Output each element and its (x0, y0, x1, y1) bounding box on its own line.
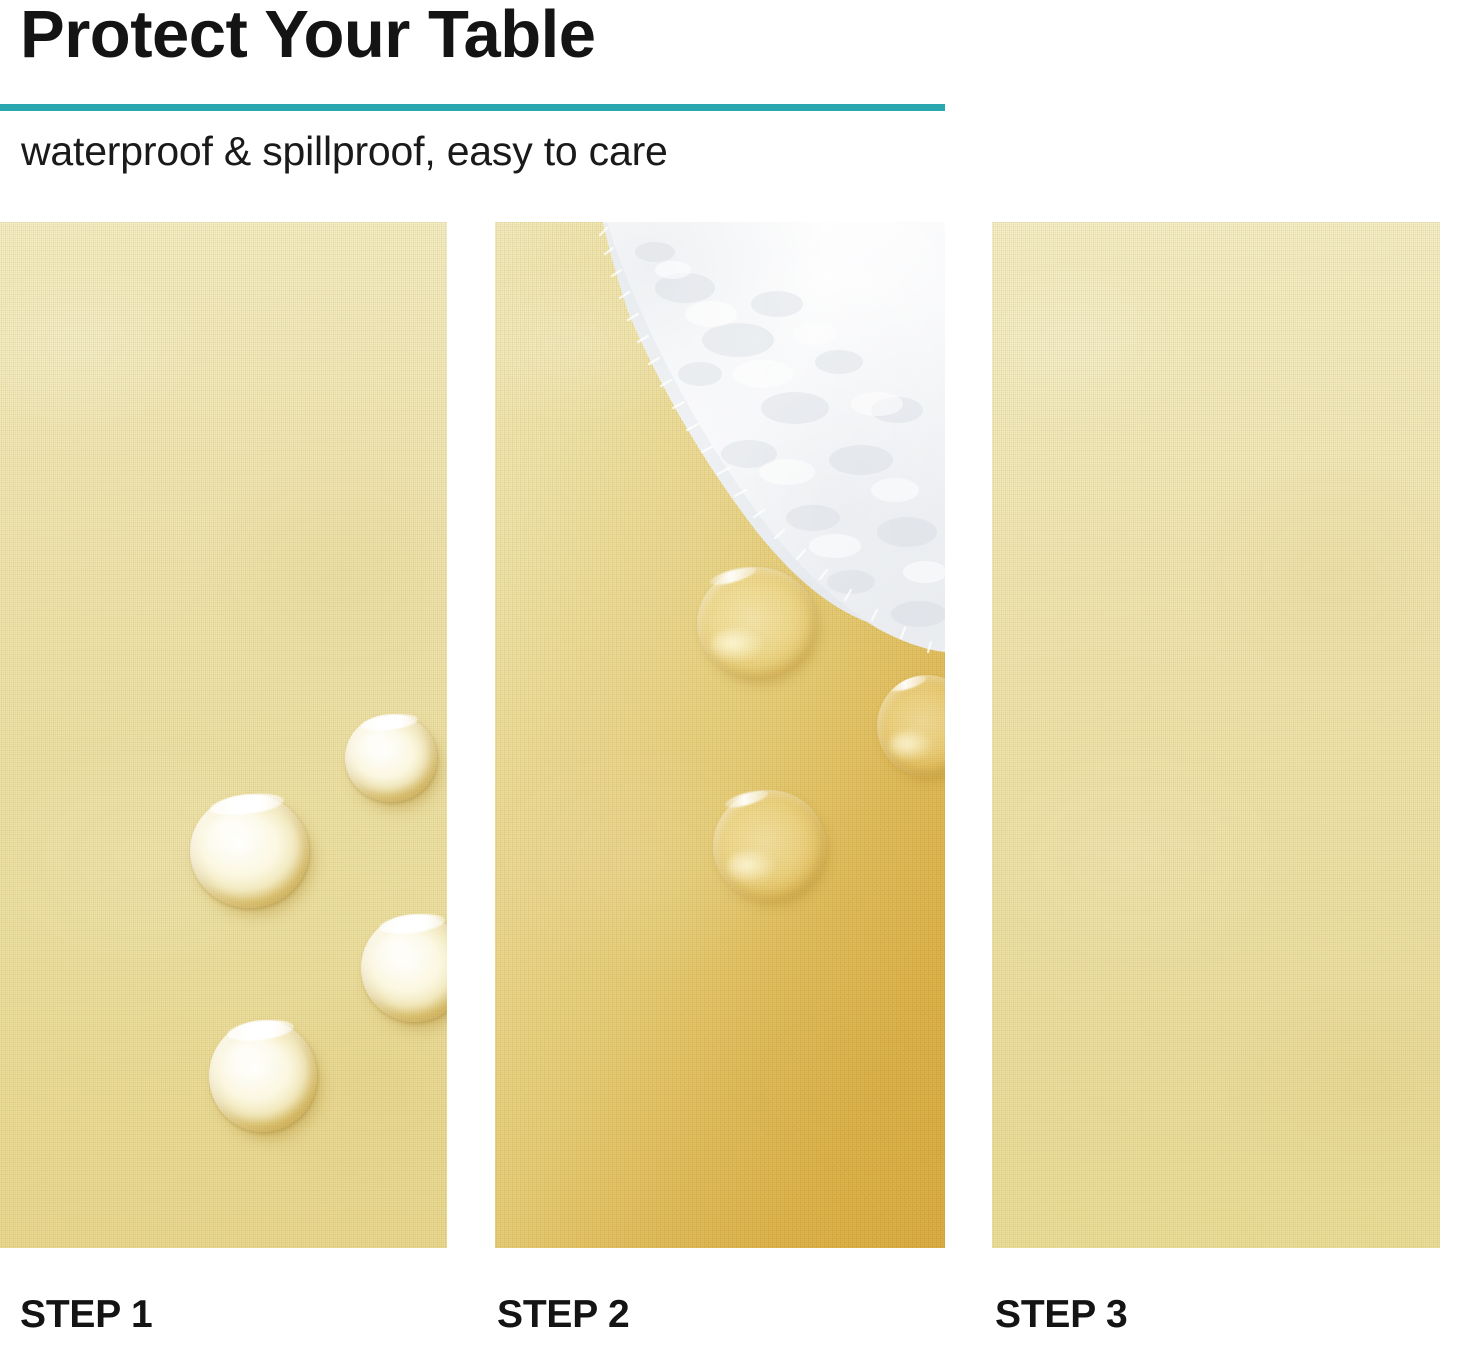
step-caption-3: STEP 3 (995, 1292, 1127, 1339)
header-block: Protect Your Table waterproof & spillpro… (0, 0, 1458, 200)
panel-step-1 (0, 222, 447, 1248)
step-caption-row: STEP 1 STEP 2 STEP 3 (0, 1292, 1458, 1363)
fabric-weave-diagonal-texture (992, 222, 1440, 1248)
fabric-surface-step-3 (992, 222, 1440, 1248)
product-infographic-page: { "header": { "title": "Protect Your Tab… (0, 0, 1458, 1363)
fabric-surface-step-2 (495, 222, 945, 1248)
fabric-weave-diagonal-texture (0, 222, 447, 1248)
fabric-surface-step-1 (0, 222, 447, 1248)
panel-strip (0, 222, 1458, 1248)
panel-step-3 (992, 222, 1440, 1248)
title-divider (0, 104, 945, 111)
page-subtitle: waterproof & spillproof, easy to care (21, 128, 668, 175)
fabric-weave-diagonal-texture (495, 222, 945, 1248)
step-caption-2: STEP 2 (497, 1292, 629, 1339)
step-caption-1: STEP 1 (20, 1292, 152, 1339)
page-title: Protect Your Table (20, 0, 596, 71)
panel-step-2 (495, 222, 945, 1248)
